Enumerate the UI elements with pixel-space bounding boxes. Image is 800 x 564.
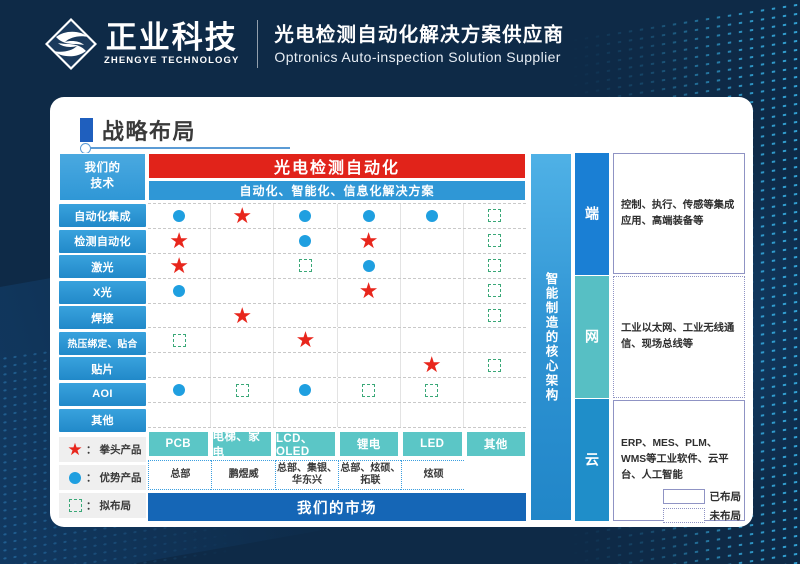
matrix-cell-6-1[interactable] — [211, 353, 274, 377]
matrix-cell-6-2[interactable] — [274, 353, 337, 377]
dot-icon — [173, 285, 185, 297]
matrix-cells: ★★★★★★★★ — [148, 203, 526, 428]
legend-right-item-0: 已布局 — [663, 489, 742, 504]
legend-left-item-2: ：拟布局 — [59, 493, 146, 518]
matrix-cell-3-1[interactable] — [211, 279, 274, 303]
star-icon: ★ — [232, 305, 252, 327]
matrix-body-column: 光电检测自动化 自动化、智能化、信息化解决方案 ★★★★★★★★ PCB电梯、家… — [148, 153, 526, 521]
company-cell-5 — [465, 460, 528, 490]
matrix-cell-6-5[interactable] — [464, 353, 526, 377]
row-label-text: 激光 — [91, 259, 114, 275]
matrix-cell-3-0[interactable] — [148, 279, 211, 303]
matrix-cell-0-3[interactable] — [338, 204, 401, 228]
legend-right-label: 未布局 — [710, 508, 742, 523]
matrix-cell-2-1[interactable] — [211, 254, 274, 278]
matrix-cell-4-0[interactable] — [148, 304, 211, 328]
dot-icon — [173, 384, 185, 396]
layer-description-1: 工业以太网、工业无线通信、现场总线等 — [613, 276, 745, 397]
dot-icon — [69, 472, 81, 484]
row-label-2[interactable]: 激光 — [59, 255, 146, 278]
layer-description-text: 工业以太网、工业无线通信、现场总线等 — [621, 321, 737, 353]
dashed-square-icon — [69, 499, 82, 512]
product-cell-2[interactable]: LCD、OLED — [275, 431, 336, 457]
matrix-cell-1-0[interactable]: ★ — [148, 229, 211, 253]
legend-symbol — [65, 499, 85, 512]
product-category-row: PCB电梯、家电LCD、OLED锂电LED其他 — [148, 431, 526, 457]
layer-description-column: 控制、执行、传感等集成应用、高端装备等工业以太网、工业无线通信、现场总线等ERP… — [613, 153, 745, 521]
brand-wordmark: 正业科技 ZHENGYE TECHNOLOGY — [104, 22, 239, 67]
matrix-cell-8-5[interactable] — [464, 403, 526, 427]
row-label-5[interactable]: 热压绑定、贴合 — [59, 332, 146, 355]
matrix-cell-4-5[interactable] — [464, 304, 526, 328]
matrix-cell-8-1[interactable] — [211, 403, 274, 427]
matrix-cell-2-0[interactable]: ★ — [148, 254, 211, 278]
matrix-cell-3-2[interactable] — [274, 279, 337, 303]
dot-icon — [299, 210, 311, 222]
dashed-square-icon — [488, 359, 501, 372]
matrix-cell-4-3[interactable] — [338, 304, 401, 328]
company-cell-4[interactable]: 炫硕 — [401, 460, 466, 490]
company-row: 总部鹏煜威总部、集银、华东兴总部、炫硕、拓联炫硕 — [148, 460, 526, 490]
row-label-0[interactable]: 自动化集成 — [59, 204, 146, 227]
matrix-cell-8-3[interactable] — [338, 403, 401, 427]
matrix-row: ★ — [148, 328, 526, 353]
product-cell-3[interactable]: 锂电 — [339, 431, 400, 457]
matrix-cell-8-4[interactable] — [401, 403, 464, 427]
matrix-cell-1-5[interactable] — [464, 229, 526, 253]
dashed-square-icon — [362, 384, 375, 397]
matrix-row: ★ — [148, 304, 526, 329]
legend-colon: ： — [86, 470, 97, 485]
row-label-text: 检测自动化 — [74, 233, 131, 249]
brand-name-en: ZHENGYE TECHNOLOGY — [104, 55, 239, 66]
matrix-cell-4-4[interactable] — [401, 304, 464, 328]
zhengye-swirl-logo-icon — [44, 17, 98, 71]
star-icon: ★ — [359, 230, 379, 252]
legend-symbol — [65, 472, 85, 484]
legend-label: 拟布局 — [100, 498, 132, 513]
banner-red: 光电检测自动化 — [148, 153, 526, 179]
matrix-row: ★ — [148, 203, 526, 229]
matrix-cell-2-3[interactable] — [338, 254, 401, 278]
row-label-text: 其他 — [91, 412, 114, 428]
matrix-cell-8-0[interactable] — [148, 403, 211, 427]
legend-label: 拳头产品 — [100, 442, 142, 457]
product-cell-1[interactable]: 电梯、家电 — [212, 431, 273, 457]
header-tagline: 光电检测自动化解决方案供应商 Optronics Auto-inspection… — [274, 23, 564, 65]
row-header-line1: 我们的 — [85, 161, 121, 177]
matrix-cell-2-5[interactable] — [464, 254, 526, 278]
company-cell-2[interactable]: 总部、集银、华东兴 — [275, 460, 340, 490]
star-icon: ★ — [359, 280, 379, 302]
row-label-7[interactable]: AOI — [59, 383, 146, 406]
matrix-cell-5-5[interactable] — [464, 328, 526, 352]
matrix-cell-5-1[interactable] — [211, 328, 274, 352]
strategy-matrix: 我们的 技术 自动化集成检测自动化激光X光焊接热压绑定、贴合贴片AOI其他 ★：… — [59, 153, 745, 521]
page-header: 正业科技 ZHENGYE TECHNOLOGY 光电检测自动化解决方案供应商 O… — [0, 0, 800, 88]
legend-colon: ： — [86, 498, 97, 513]
dot-icon — [363, 210, 375, 222]
dashed-square-icon — [488, 259, 501, 272]
matrix-cell-8-2[interactable] — [274, 403, 337, 427]
matrix-cell-1-3[interactable]: ★ — [338, 229, 401, 253]
legend-label: 优势产品 — [100, 470, 142, 485]
brand-name-cn: 正业科技 — [106, 22, 238, 55]
dot-icon — [299, 235, 311, 247]
matrix-cell-5-0[interactable] — [148, 328, 211, 352]
dashed-square-icon — [299, 259, 312, 272]
matrix-cell-3-4[interactable] — [401, 279, 464, 303]
matrix-cell-7-2[interactable] — [274, 378, 337, 402]
tagline-en: Optronics Auto-inspection Solution Suppl… — [274, 49, 564, 65]
dot-icon — [426, 210, 438, 222]
row-label-3[interactable]: X光 — [59, 281, 146, 304]
layer-description-text: ERP、MES、PLM、WMS等工业软件、云平台、人工智能 — [621, 436, 737, 484]
title-dot-icon — [80, 143, 91, 154]
layer-label-2[interactable]: 云 — [575, 399, 609, 521]
row-label-4[interactable]: 焊接 — [59, 306, 146, 329]
legend-left-item-1: ：优势产品 — [59, 465, 146, 490]
matrix-cell-1-4[interactable] — [401, 229, 464, 253]
legend-swatch-dotted — [663, 508, 705, 523]
legend-right-label: 已布局 — [710, 489, 742, 504]
matrix-cell-3-5[interactable] — [464, 279, 526, 303]
layer-description-text: 控制、执行、传感等集成应用、高端装备等 — [621, 198, 737, 230]
dashed-square-icon — [236, 384, 249, 397]
product-cell-5[interactable]: 其他 — [466, 431, 527, 457]
row-label-text: X光 — [93, 284, 112, 300]
matrix-cell-7-5[interactable] — [464, 378, 526, 402]
row-label-text: AOI — [92, 388, 112, 400]
star-icon: ★ — [169, 255, 189, 277]
core-architecture-bar: 智能制造的核心架构 — [530, 153, 572, 521]
content-card: 战略布局 我们的 技术 自动化集成检测自动化激光X光焊接热压绑定、贴合贴片AOI… — [50, 97, 753, 527]
matrix-cell-7-4[interactable] — [401, 378, 464, 402]
star-icon: ★ — [169, 230, 189, 252]
matrix-cell-7-1[interactable] — [211, 378, 274, 402]
row-header-line2: 技术 — [91, 177, 115, 193]
dashed-square-icon — [488, 209, 501, 222]
matrix-row — [148, 403, 526, 428]
company-cell-3[interactable]: 总部、炫硕、拓联 — [338, 460, 403, 490]
section-title-row: 战略布局 — [80, 114, 196, 146]
row-label-list: 自动化集成检测自动化激光X光焊接热压绑定、贴合贴片AOI其他 — [59, 204, 146, 434]
legend-swatch-solid — [663, 489, 705, 504]
technology-label-column: 我们的 技术 自动化集成检测自动化激光X光焊接热压绑定、贴合贴片AOI其他 ★：… — [59, 153, 146, 521]
dot-icon — [363, 260, 375, 272]
dot-icon — [173, 210, 185, 222]
layer-label-1[interactable]: 网 — [575, 276, 609, 398]
star-icon: ★ — [232, 205, 252, 227]
dashed-square-icon — [488, 284, 501, 297]
row-label-text: 贴片 — [91, 361, 114, 377]
matrix-cell-4-1[interactable]: ★ — [211, 304, 274, 328]
dashed-square-icon — [488, 234, 501, 247]
layer-description-0: 控制、执行、传感等集成应用、高端装备等 — [613, 153, 745, 274]
company-cell-0[interactable]: 总部 — [148, 460, 213, 490]
matrix-cell-7-3[interactable] — [338, 378, 401, 402]
matrix-cell-5-2[interactable]: ★ — [274, 328, 337, 352]
row-label-6[interactable]: 贴片 — [59, 357, 146, 380]
row-header-our-technology: 我们的 技术 — [59, 153, 146, 201]
product-cell-0[interactable]: PCB — [148, 431, 209, 457]
dashed-square-icon — [425, 384, 438, 397]
matrix-cell-0-0[interactable] — [148, 204, 211, 228]
layer-label-column: 端网云 — [575, 153, 609, 521]
matrix-cell-5-4[interactable] — [401, 328, 464, 352]
matrix-cell-2-2[interactable] — [274, 254, 337, 278]
title-bar-icon — [80, 118, 93, 142]
matrix-cell-6-3[interactable] — [338, 353, 401, 377]
star-icon: ★ — [67, 441, 82, 458]
layer-label-0[interactable]: 端 — [575, 153, 609, 275]
product-cell-4[interactable]: LED — [402, 431, 463, 457]
matrix-cell-3-3[interactable]: ★ — [338, 279, 401, 303]
matrix-cell-1-2[interactable] — [274, 229, 337, 253]
dashed-square-icon — [488, 309, 501, 322]
legend-right: 已布局未布局 — [663, 489, 742, 523]
matrix-cell-7-0[interactable] — [148, 378, 211, 402]
legend-left: ★：拳头产品：优势产品：拟布局 — [59, 437, 146, 521]
header-divider — [257, 20, 258, 68]
matrix-cell-6-4[interactable]: ★ — [401, 353, 464, 377]
row-label-text: 热压绑定、贴合 — [68, 336, 138, 350]
matrix-cell-2-4[interactable] — [401, 254, 464, 278]
matrix-cell-0-4[interactable] — [401, 204, 464, 228]
dashed-square-icon — [173, 334, 186, 347]
row-label-text: 自动化集成 — [74, 208, 131, 224]
matrix-cell-0-1[interactable]: ★ — [211, 204, 274, 228]
matrix-cell-0-5[interactable] — [464, 204, 526, 228]
star-icon: ★ — [296, 329, 316, 351]
company-cell-1[interactable]: 鹏煜威 — [211, 460, 276, 490]
row-label-text: 焊接 — [91, 310, 114, 326]
matrix-cell-5-3[interactable] — [338, 328, 401, 352]
page-title: 战略布局 — [102, 114, 196, 146]
tagline-cn: 光电检测自动化解决方案供应商 — [274, 23, 564, 47]
matrix-row — [148, 378, 526, 403]
matrix-row: ★ — [148, 279, 526, 304]
legend-symbol: ★ — [65, 441, 85, 458]
market-banner: 我们的市场 — [148, 493, 526, 521]
legend-left-item-0: ★：拳头产品 — [59, 437, 146, 462]
row-label-1[interactable]: 检测自动化 — [59, 230, 146, 253]
row-label-8[interactable]: 其他 — [59, 409, 146, 432]
matrix-row: ★★ — [148, 229, 526, 254]
matrix-row: ★ — [148, 254, 526, 279]
title-underline — [90, 147, 290, 149]
matrix-cell-6-0[interactable] — [148, 353, 211, 377]
dot-icon — [299, 384, 311, 396]
matrix-cell-1-1[interactable] — [211, 229, 274, 253]
star-icon: ★ — [422, 354, 442, 376]
banner-blue: 自动化、智能化、信息化解决方案 — [148, 180, 526, 201]
matrix-cell-4-2[interactable] — [274, 304, 337, 328]
legend-colon: ： — [86, 442, 97, 457]
legend-right-item-1: 未布局 — [663, 508, 742, 523]
matrix-cell-0-2[interactable] — [274, 204, 337, 228]
matrix-row: ★ — [148, 353, 526, 378]
